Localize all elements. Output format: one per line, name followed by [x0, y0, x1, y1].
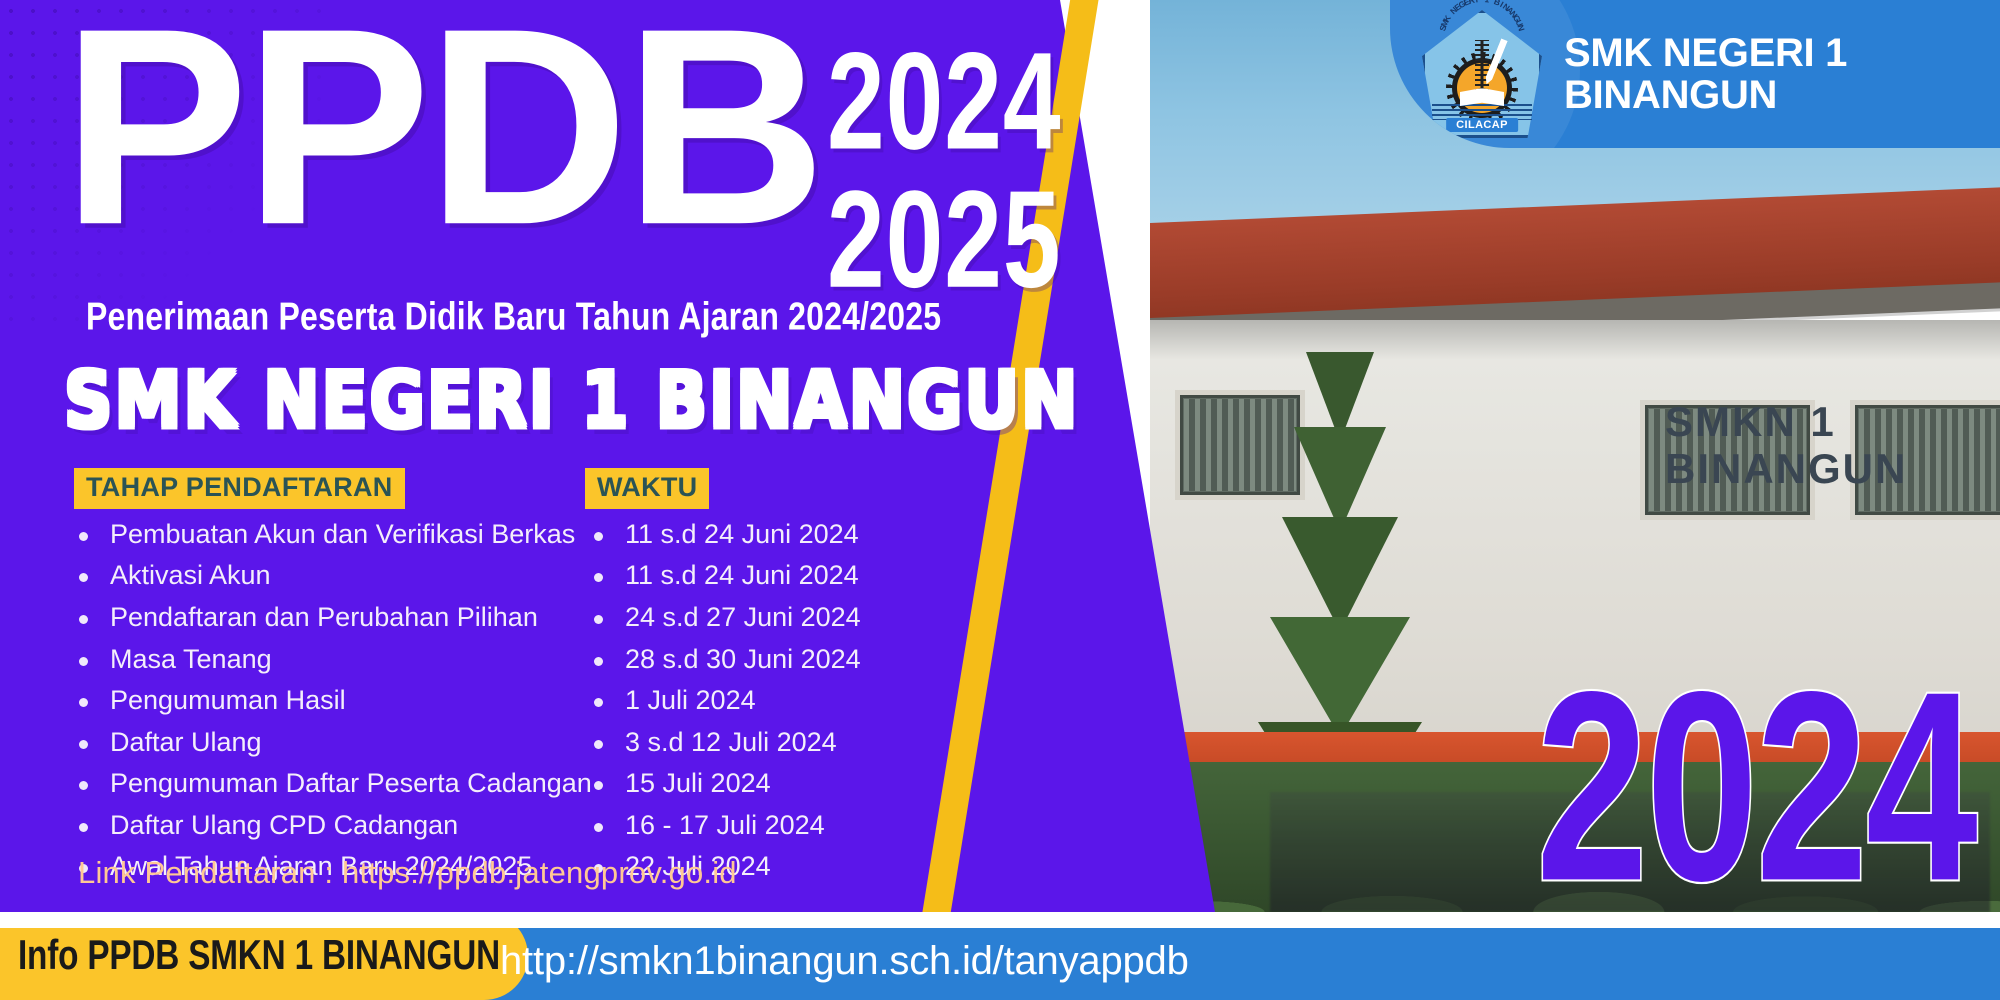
stage-item: Aktivasi Akun	[62, 560, 577, 592]
schedule-table: TAHAP PENDAFTARAN Pembuatan Akun dan Ver…	[62, 468, 997, 893]
stage-item: Pengumuman Hasil	[62, 685, 577, 717]
stages-header: TAHAP PENDAFTARAN	[74, 468, 405, 509]
badge-label-line2: BINANGUN	[1564, 74, 1847, 116]
badge-label: SMK NEGERI 1 BINANGUN	[1564, 32, 1847, 117]
stage-item: Pembuatan Akun dan Verifikasi Berkas	[62, 519, 577, 551]
times-list: 11 s.d 24 Juni 202411 s.d 24 Juni 202424…	[577, 519, 997, 883]
school-badge: SMK NEGERI 1 BINANGUN CILACAP SMK NEGERI…	[1390, 0, 2000, 148]
time-item: 3 s.d 12 Juli 2024	[577, 727, 997, 759]
stage-item: Masa Tenang	[62, 644, 577, 676]
title-row: PPDB 2024 2025	[62, 6, 1071, 248]
time-item: 1 Juli 2024	[577, 685, 997, 717]
time-item: 15 Juli 2024	[577, 768, 997, 800]
time-item: 28 s.d 30 Juni 2024	[577, 644, 997, 676]
time-item: 11 s.d 24 Juni 2024	[577, 560, 997, 592]
subtitle: Penerimaan Peserta Didik Baru Tahun Ajar…	[86, 294, 941, 339]
year-start: 2024	[827, 32, 1061, 170]
stage-item: Pengumuman Daftar Peserta Cadangan	[62, 768, 577, 800]
crest-banner-text: CILACAP	[1446, 118, 1518, 132]
school-crest-icon: SMK NEGERI 1 BINANGUN CILACAP	[1422, 10, 1542, 138]
footer-white-strip	[0, 912, 2000, 928]
time-item: 16 - 17 Juli 2024	[577, 810, 997, 842]
stages-column: TAHAP PENDAFTARAN Pembuatan Akun dan Ver…	[62, 468, 577, 893]
time-item: 11 s.d 24 Juni 2024	[577, 519, 997, 551]
wall-sign: SMKN 1 BINANGUN	[1665, 398, 1907, 492]
year-range: 2024 2025	[827, 32, 1061, 308]
footer-url[interactable]: http://smkn1binangun.sch.id/tanyappdb	[500, 939, 1189, 984]
page-title: PPDB	[62, 6, 822, 247]
badge-label-line1: SMK NEGERI 1	[1564, 32, 1847, 74]
times-column: WAKTU 11 s.d 24 Juni 202411 s.d 24 Juni …	[577, 468, 997, 893]
footer-bar: Info PPDB SMKN 1 BINANGUN http://smkn1bi…	[0, 912, 2000, 1000]
year-end: 2025	[827, 170, 1061, 308]
footer-info-label: Info PPDB SMKN 1 BINANGUN	[18, 932, 500, 980]
tower-icon	[1475, 40, 1489, 96]
school-name-heading: SMK NEGERI 1 BINANGUN	[64, 355, 1080, 446]
ppdb-poster: SMKN 1 BINANGUN PPDB 2024 2025 Penerimaa…	[0, 0, 2000, 1000]
registration-link[interactable]: Link Pendaftaran : https://ppdb.jatengpr…	[78, 855, 737, 891]
big-year-overlay: 2024	[1536, 652, 1976, 922]
times-header: WAKTU	[585, 468, 709, 509]
time-item: 24 s.d 27 Juni 2024	[577, 602, 997, 634]
stage-item: Daftar Ulang	[62, 727, 577, 759]
wall-sign-line2: BINANGUN	[1665, 445, 1907, 492]
wall-sign-line1: SMKN 1	[1665, 398, 1907, 445]
stage-item: Daftar Ulang CPD Cadangan	[62, 810, 577, 842]
stages-list: Pembuatan Akun dan Verifikasi BerkasAkti…	[62, 519, 577, 883]
stage-item: Pendaftaran dan Perubahan Pilihan	[62, 602, 577, 634]
